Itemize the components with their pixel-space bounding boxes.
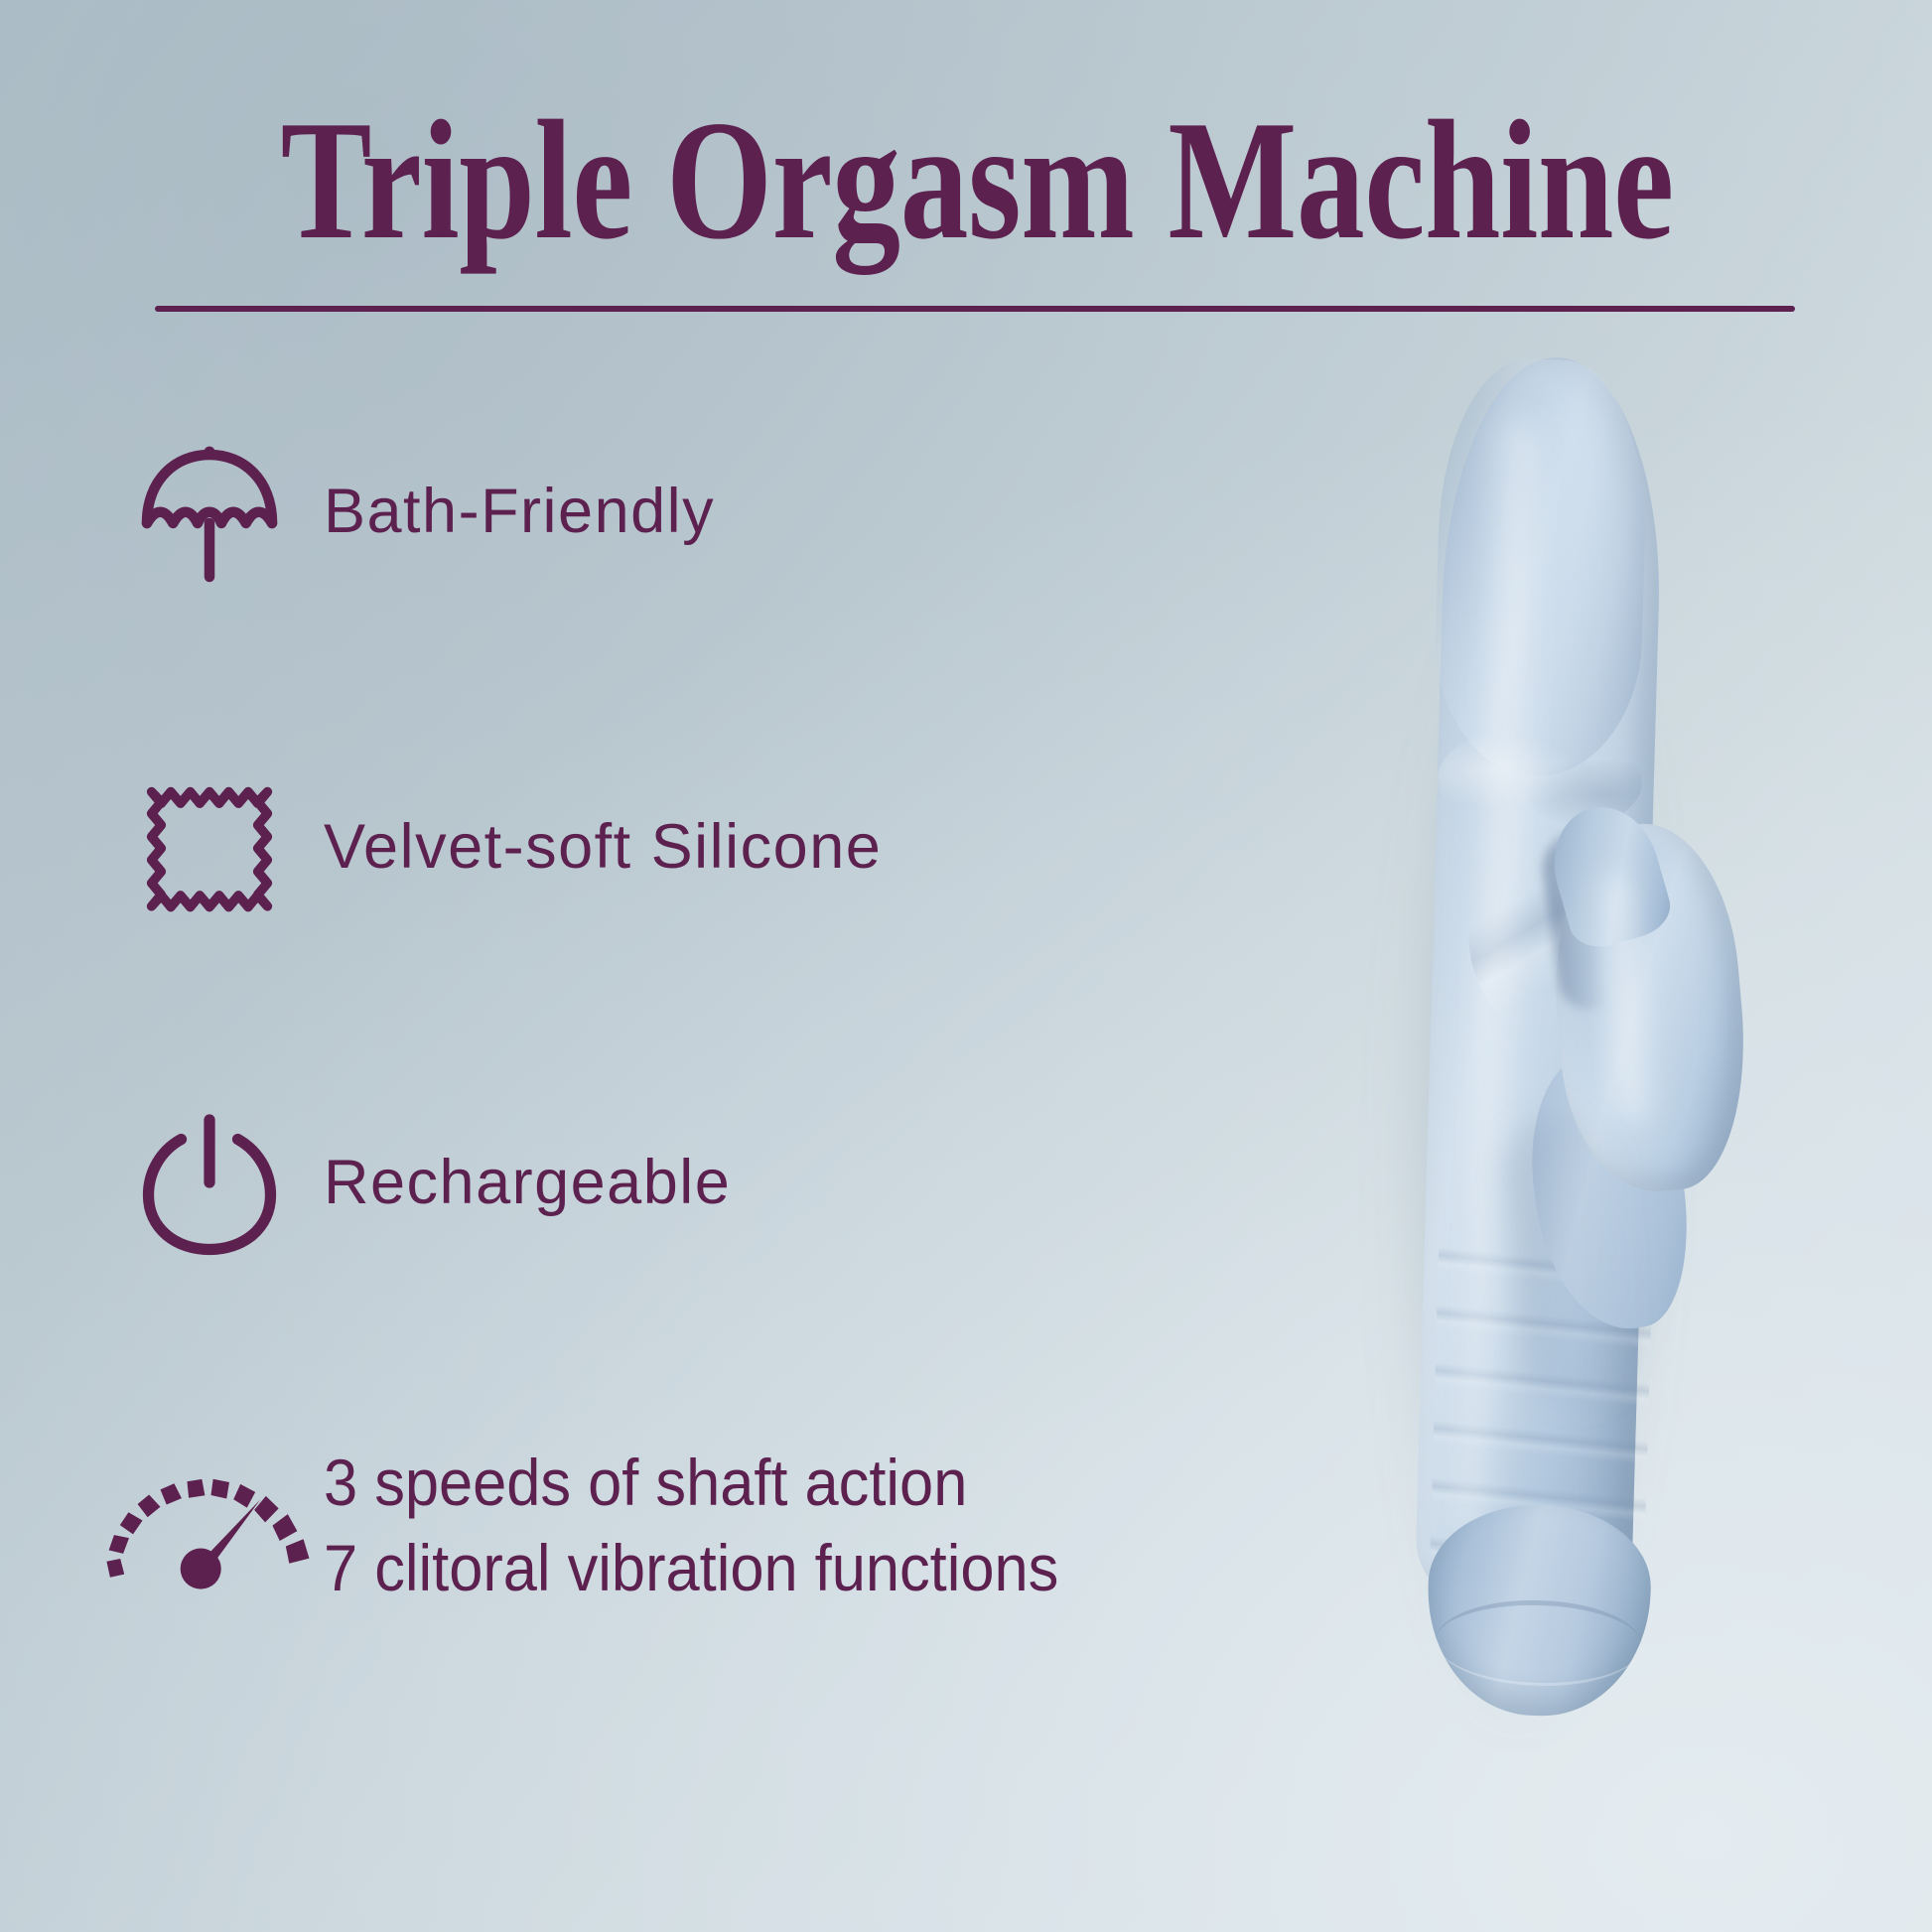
feature-row: Velvet-soft Silicone — [95, 753, 882, 941]
power-icon — [95, 1088, 324, 1277]
product-tip — [1432, 356, 1650, 779]
product-image — [1320, 357, 1932, 1906]
feature-label: Rechargeable — [324, 1145, 731, 1221]
page-title: Triple Orgasm Machine — [194, 95, 1739, 266]
feature-label: Bath-Friendly — [324, 474, 715, 550]
feature-label: Velvet-soft Silicone — [324, 809, 882, 886]
speedometer-icon — [95, 1432, 324, 1620]
fabric-swatch-icon — [95, 753, 324, 941]
feature-row: Rechargeable — [95, 1088, 731, 1277]
feature-label: 3 speeds of shaft action 7 clitoral vibr… — [324, 1441, 1058, 1611]
title-block: Triple Orgasm Machine — [0, 95, 1932, 266]
feature-row: 3 speeds of shaft action 7 clitoral vibr… — [95, 1432, 1114, 1620]
umbrella-icon — [95, 417, 324, 606]
infographic-canvas: Triple Orgasm Machine Bath-Friendly — [0, 0, 1932, 1932]
title-divider — [155, 306, 1795, 312]
feature-row: Bath-Friendly — [95, 417, 715, 606]
